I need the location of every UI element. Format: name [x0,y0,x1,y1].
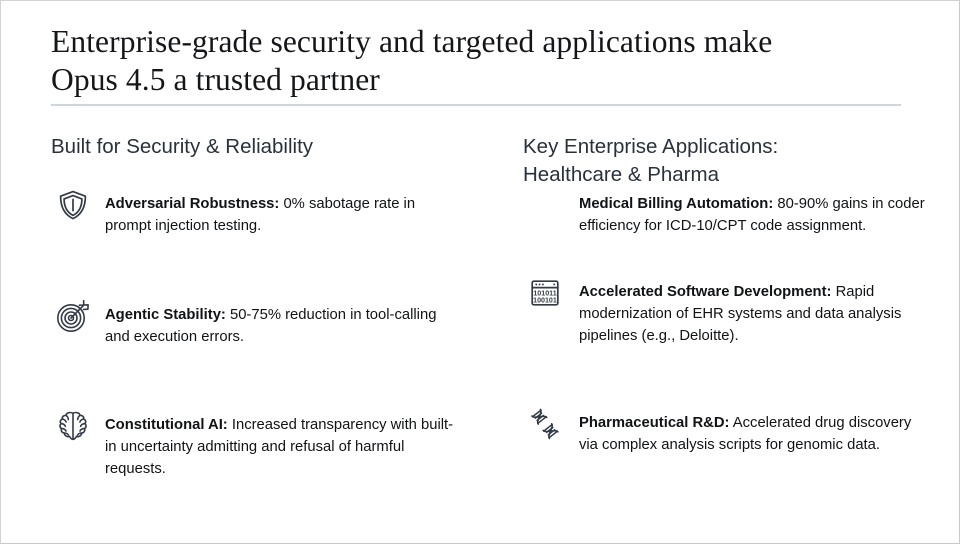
right-column-heading: Key Enterprise Applications: Healthcare … [523,133,925,189]
list-item-text: Constitutional AI: Increased transparenc… [105,404,455,480]
right-column-items: Medical Billing Automation: 80-90% gains… [523,183,925,456]
list-item: Agentic Stability: 50-75% reduction in t… [51,294,455,348]
page-title: Enterprise-grade security and targeted a… [51,23,901,99]
list-item-lead: Medical Billing Automation: [579,196,773,212]
list-item-lead: Agentic Stability: [105,307,226,323]
list-item-text: Pharmaceutical R&D: Accelerated drug dis… [579,402,925,456]
list-item-text: Adversarial Robustness: 0% sabotage rate… [105,183,455,237]
list-item-text: Agentic Stability: 50-75% reduction in t… [105,294,455,348]
left-column-heading: Built for Security & Reliability [51,133,455,161]
slide-canvas: Enterprise-grade security and targeted a… [0,0,960,544]
title-divider [51,104,901,106]
title-block: Enterprise-grade security and targeted a… [51,23,901,99]
list-item: Medical Billing Automation: 80-90% gains… [523,183,925,237]
list-item-lead: Accelerated Software Development: [579,284,831,300]
list-item: Pharmaceutical R&D: Accelerated drug dis… [523,402,925,456]
dna-helix-icon [523,402,567,446]
shield-icon [51,183,95,227]
list-item: Adversarial Robustness: 0% sabotage rate… [51,183,455,237]
binary-icon-line2: 100101 [533,296,557,304]
list-item-lead: Adversarial Robustness: [105,196,279,212]
list-item: Constitutional AI: Increased transparenc… [51,404,455,480]
left-column-items: Adversarial Robustness: 0% sabotage rate… [51,183,455,480]
left-column: Built for Security & Reliability Adversa… [1,133,471,480]
list-item-lead: Constitutional AI: [105,417,228,433]
list-item: 101011 100101 Accelerated Software Devel… [523,271,925,347]
content-columns: Built for Security & Reliability Adversa… [1,133,960,480]
target-dart-icon [51,294,95,338]
brain-icon [51,404,95,448]
list-item-lead: Pharmaceutical R&D: [579,415,729,431]
right-column: Key Enterprise Applications: Healthcare … [471,133,960,480]
list-item-text: Medical Billing Automation: 80-90% gains… [579,183,925,237]
list-item-text: Accelerated Software Development: Rapid … [579,271,925,347]
binary-code-window-icon: 101011 100101 [523,271,567,315]
